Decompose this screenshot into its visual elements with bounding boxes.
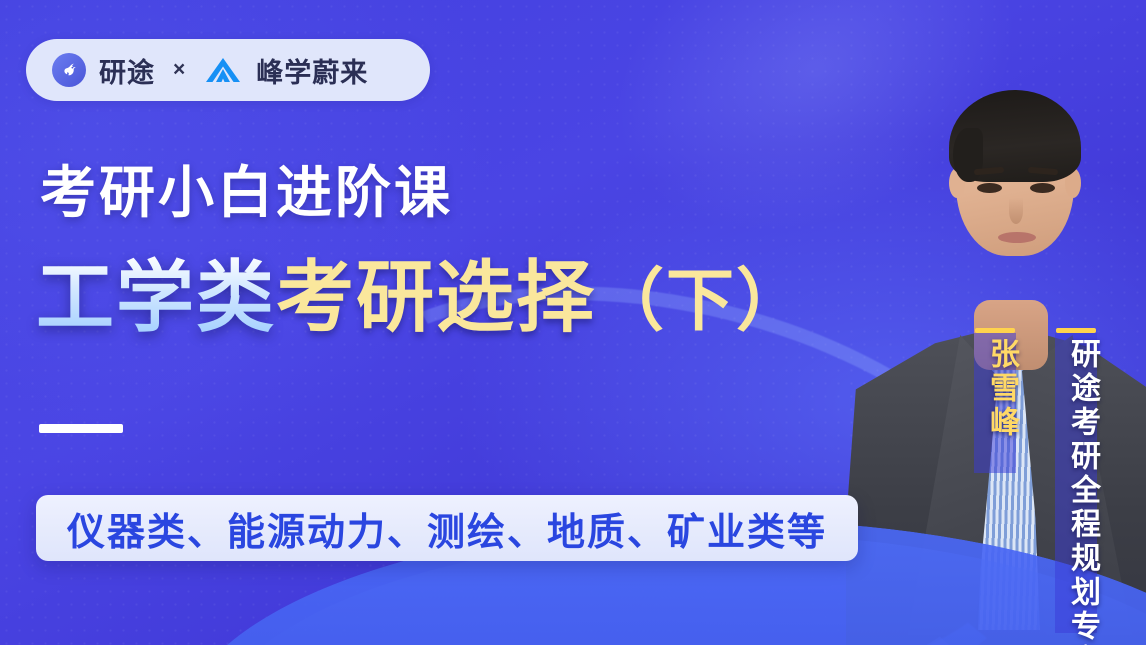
headline-part-topic: 考研选择 [276,253,596,341]
nose-shape [1009,198,1023,224]
presenter-role-top-bar [1056,328,1096,333]
brand-right-label: 峰学蔚来 [256,51,368,90]
brand-separator-icon: × [173,58,185,82]
headline-part-category: 工学类 [36,253,276,341]
course-promo-poster: 张雪峰 研途考研全程规划专家 研途 × 峰学蔚来 考研小白进阶课 工学类考研选择… [0,0,1146,645]
presenter-role: 研途考研全程规划专家 [1060,338,1104,645]
brand-left-label: 研途 [99,51,155,90]
headline-part-volume: （下） [596,263,806,339]
topics-banner: 仪器类、能源动力、测绘、地质、矿业类等 [36,495,858,561]
yantu-horse-circle-icon [52,53,86,87]
presenter-name: 张雪峰 [979,338,1023,440]
eye-left [977,183,1002,193]
topics-banner-label: 仪器类、能源动力、测绘、地质、矿业类等 [67,501,827,556]
hair-shape [949,90,1081,182]
presenter-name-top-bar [975,328,1015,333]
eye-right [1030,183,1055,193]
fengxue-mountain-icon [203,55,243,85]
page-title: 工学类考研选择（下） [36,258,806,336]
mouth-shape [998,232,1036,243]
subtitle-text: 考研小白进阶课 [40,148,453,229]
title-underline-dash [39,424,123,433]
brand-logo-bar: 研途 × 峰学蔚来 [26,39,430,101]
